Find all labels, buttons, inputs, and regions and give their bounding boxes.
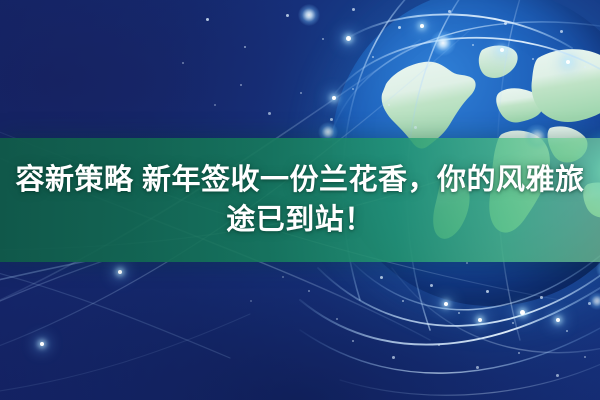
banner-text-area: 容新策略 新年签收一份兰花香，你的风雅旅途已到站！ — [0, 138, 600, 262]
banner-image: 容新策略 新年签收一份兰花香，你的风雅旅途已到站！ — [0, 0, 600, 400]
lower-light-streaks — [0, 262, 600, 400]
page-title: 容新策略 新年签收一份兰花香，你的风雅旅途已到站！ — [6, 160, 594, 240]
